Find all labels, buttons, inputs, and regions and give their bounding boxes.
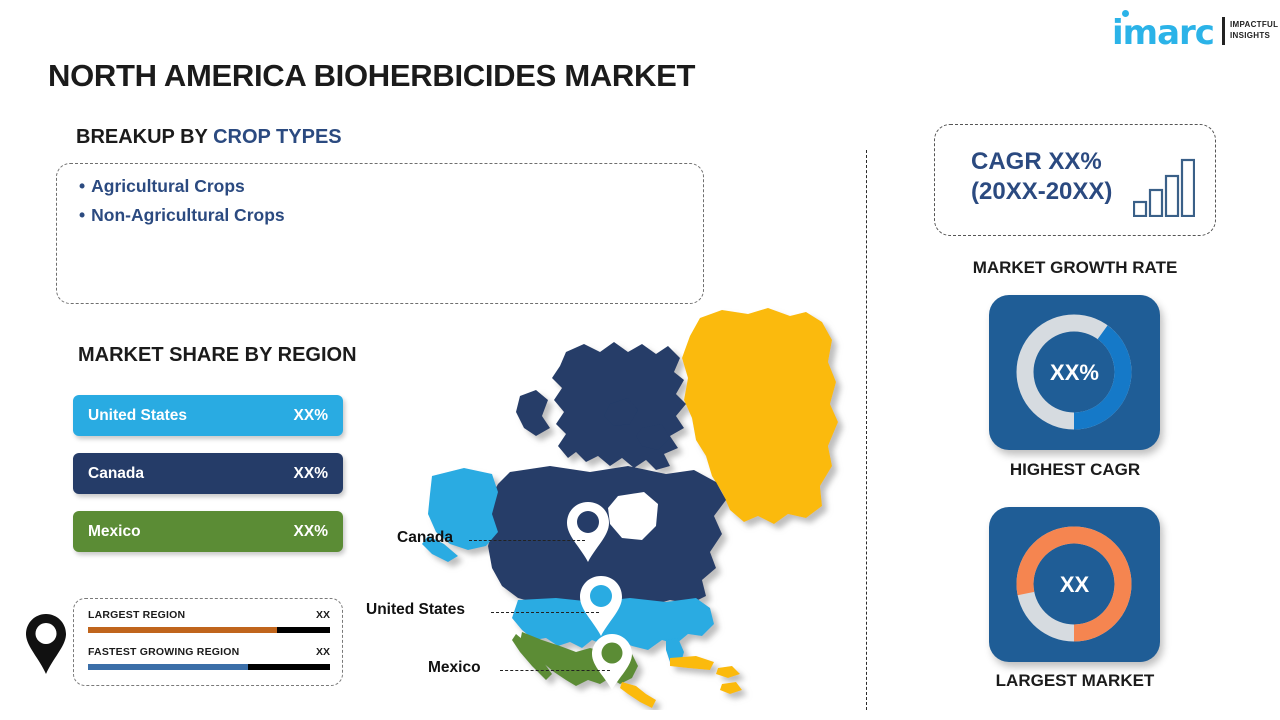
map-label-canada: Canada	[397, 529, 453, 547]
map-label-united-states: United States	[366, 601, 465, 619]
imarc-logo: imarc IMPACTFUL INSIGHTS	[1112, 8, 1262, 52]
crop-type-item: •Agricultural Crops	[79, 176, 245, 197]
region-name: Mexico	[88, 523, 141, 541]
legend-label: FASTEST GROWING REGION	[88, 646, 330, 658]
donut-value: XX%	[989, 360, 1160, 386]
breakup-heading-prefix: BREAKUP BY	[76, 126, 213, 148]
infographic-page: imarc IMPACTFUL INSIGHTS NORTH AMERICA B…	[0, 0, 1280, 720]
legend-value: XX	[316, 646, 330, 658]
legend-track	[88, 627, 330, 633]
donut-card-highest-cagr: XX%	[989, 295, 1160, 450]
crop-type-label: Agricultural Crops	[91, 176, 245, 196]
vertical-divider	[866, 150, 867, 710]
region-value: XX%	[294, 407, 328, 425]
cagr-box: CAGR XX% (20XX-20XX)	[934, 124, 1216, 236]
map-region-caribbean	[716, 666, 740, 678]
cagr-line-2: (20XX-20XX)	[971, 177, 1112, 207]
region-legend-card: LARGEST REGION XX FASTEST GROWING REGION…	[73, 598, 343, 686]
breakup-heading-accent: CROP TYPES	[213, 126, 342, 148]
map-svg	[370, 300, 860, 710]
bullet-icon: •	[79, 176, 85, 196]
region-bar-mexico[interactable]: Mexico XX%	[73, 511, 343, 552]
legend-row-largest-region: LARGEST REGION XX	[88, 609, 330, 621]
region-bar-canada[interactable]: Canada XX%	[73, 453, 343, 494]
bar-chart-icon	[1133, 155, 1195, 217]
logo-divider	[1222, 17, 1225, 45]
logo-tagline-line1: IMPACTFUL	[1230, 19, 1278, 30]
donut-value: XX	[989, 572, 1160, 598]
region-bar-united-states[interactable]: United States XX%	[73, 395, 343, 436]
legend-fill	[88, 627, 277, 633]
page-title: NORTH AMERICA BIOHERBICIDES MARKET	[48, 58, 695, 94]
market-share-heading: MARKET SHARE BY REGION	[78, 344, 357, 367]
market-growth-rate-label: MARKET GROWTH RATE	[934, 258, 1216, 278]
logo-tagline: IMPACTFUL INSIGHTS	[1230, 19, 1278, 41]
bullet-icon: •	[79, 205, 85, 225]
map-region-central-america	[620, 682, 656, 708]
crop-type-item: •Non-Agricultural Crops	[79, 205, 285, 226]
cagr-text: CAGR XX% (20XX-20XX)	[971, 147, 1112, 207]
donut-card-largest-market: XX	[989, 507, 1160, 662]
location-pin-icon	[25, 613, 67, 675]
map-region-caribbean	[720, 682, 742, 694]
legend-fill	[88, 664, 248, 670]
logo-wordmark: imarc	[1112, 16, 1214, 50]
cagr-line-1: CAGR XX%	[971, 147, 1112, 177]
legend-value: XX	[316, 609, 330, 621]
donut-caption-largest-market: LARGEST MARKET	[934, 671, 1216, 691]
crop-types-box: •Agricultural Crops •Non-Agricultural Cr…	[56, 163, 704, 304]
map-leader-united-states	[491, 612, 599, 613]
map-region-caribbean	[670, 656, 714, 670]
legend-track	[88, 664, 330, 670]
region-name: United States	[88, 407, 187, 425]
region-value: XX%	[294, 523, 328, 541]
north-america-map	[370, 300, 860, 710]
donut-caption-highest-cagr: HIGHEST CAGR	[934, 460, 1216, 480]
crop-type-label: Non-Agricultural Crops	[91, 205, 284, 225]
legend-row-fastest-growing-region: FASTEST GROWING REGION XX	[88, 646, 330, 658]
region-name: Canada	[88, 465, 144, 483]
map-label-mexico: Mexico	[428, 659, 481, 677]
map-leader-mexico	[500, 670, 610, 671]
map-region-canada-island	[516, 390, 550, 436]
region-value: XX%	[294, 465, 328, 483]
map-leader-canada	[469, 540, 585, 541]
breakup-heading: BREAKUP BY CROP TYPES	[76, 126, 342, 149]
legend-label: LARGEST REGION	[88, 609, 330, 621]
logo-tagline-line2: INSIGHTS	[1230, 30, 1278, 41]
